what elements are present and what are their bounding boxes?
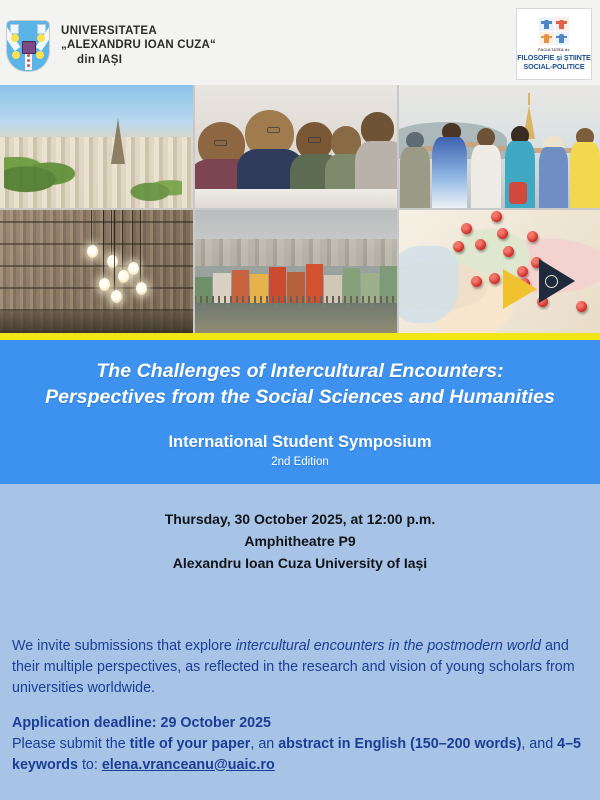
event-edition: 2nd Edition xyxy=(16,456,584,468)
photo-library-bookshelves xyxy=(0,209,194,333)
photo-students-writing xyxy=(194,85,398,209)
connector-3: to: xyxy=(78,757,102,773)
symposium-poster: UNIVERSITATEA „ALEXANDRU IOAN CUZA“ din … xyxy=(0,0,600,800)
application-deadline: Application deadline: 29 October 2025 xyxy=(12,713,586,734)
submission-requirements: Please submit the title of your paper, a… xyxy=(12,734,586,776)
photo-paris-skyline xyxy=(0,85,194,209)
event-subtitle: International Student Symposium xyxy=(16,433,584,452)
event-venue: Amphitheatre P9 xyxy=(0,531,600,553)
faculty-caption-line1: FILOSOFIE și ȘTIINȚE xyxy=(517,53,590,62)
photo-map-with-pins xyxy=(398,209,600,333)
event-details: Thursday, 30 October 2025, at 12:00 p.m.… xyxy=(0,484,600,574)
yellow-divider-rule xyxy=(0,333,600,340)
university-brand: UNIVERSITATEA „ALEXANDRU IOAN CUZA“ din … xyxy=(6,14,216,72)
university-name-block: UNIVERSITATEA „ALEXANDRU IOAN CUZA“ din … xyxy=(61,24,216,67)
faculty-logo: FACULTATEA de FILOSOFIE și ȘTIINȚE SOCIA… xyxy=(516,8,592,80)
university-name-line2: „ALEXANDRU IOAN CUZA“ xyxy=(61,38,216,52)
faculty-quadrant-logo-icon xyxy=(539,17,569,45)
photo-waterfront-houses xyxy=(194,209,398,333)
invitation-part1: We invite submissions that explore xyxy=(12,638,236,654)
invitation-emphasis: intercultural encounters in the postmode… xyxy=(236,638,541,654)
submit-prefix: Please submit the xyxy=(12,736,130,752)
contact-email-link[interactable]: elena.vranceanu@uaic.ro xyxy=(102,757,275,773)
university-name-line3: din IAȘI xyxy=(61,53,216,67)
faculty-caption-line2: SOCIAL-POLITICE xyxy=(523,62,584,71)
event-institution: Alexandru Ioan Cuza University of Iași xyxy=(0,553,600,575)
event-datetime: Thursday, 30 October 2025, at 12:00 p.m. xyxy=(0,509,600,531)
submission-instructions: Application deadline: 29 October 2025 Pl… xyxy=(0,699,600,776)
connector-2: , and xyxy=(521,736,557,752)
title-banner: The Challenges of Intercultural Encounte… xyxy=(0,340,600,484)
requirement-abstract: abstract in English (150–200 words) xyxy=(278,736,521,752)
uaic-shield-crest-icon xyxy=(6,20,50,72)
invitation-paragraph: We invite submissions that explore inter… xyxy=(0,574,600,699)
poster-title: The Challenges of Intercultural Encounte… xyxy=(16,358,584,410)
poster-header: UNIVERSITATEA „ALEXANDRU IOAN CUZA“ din … xyxy=(0,0,600,85)
requirement-title: title of your paper xyxy=(130,736,251,752)
connector-1: , an xyxy=(250,736,278,752)
poster-title-line1: The Challenges of Intercultural Encounte… xyxy=(16,358,584,384)
photo-collage xyxy=(0,85,600,333)
poster-body: Thursday, 30 October 2025, at 12:00 p.m.… xyxy=(0,484,600,775)
university-name-line1: UNIVERSITATEA xyxy=(61,24,216,38)
poster-title-line2: Perspectives from the Social Sciences an… xyxy=(16,384,584,410)
photo-friends-arms-around xyxy=(398,85,600,209)
